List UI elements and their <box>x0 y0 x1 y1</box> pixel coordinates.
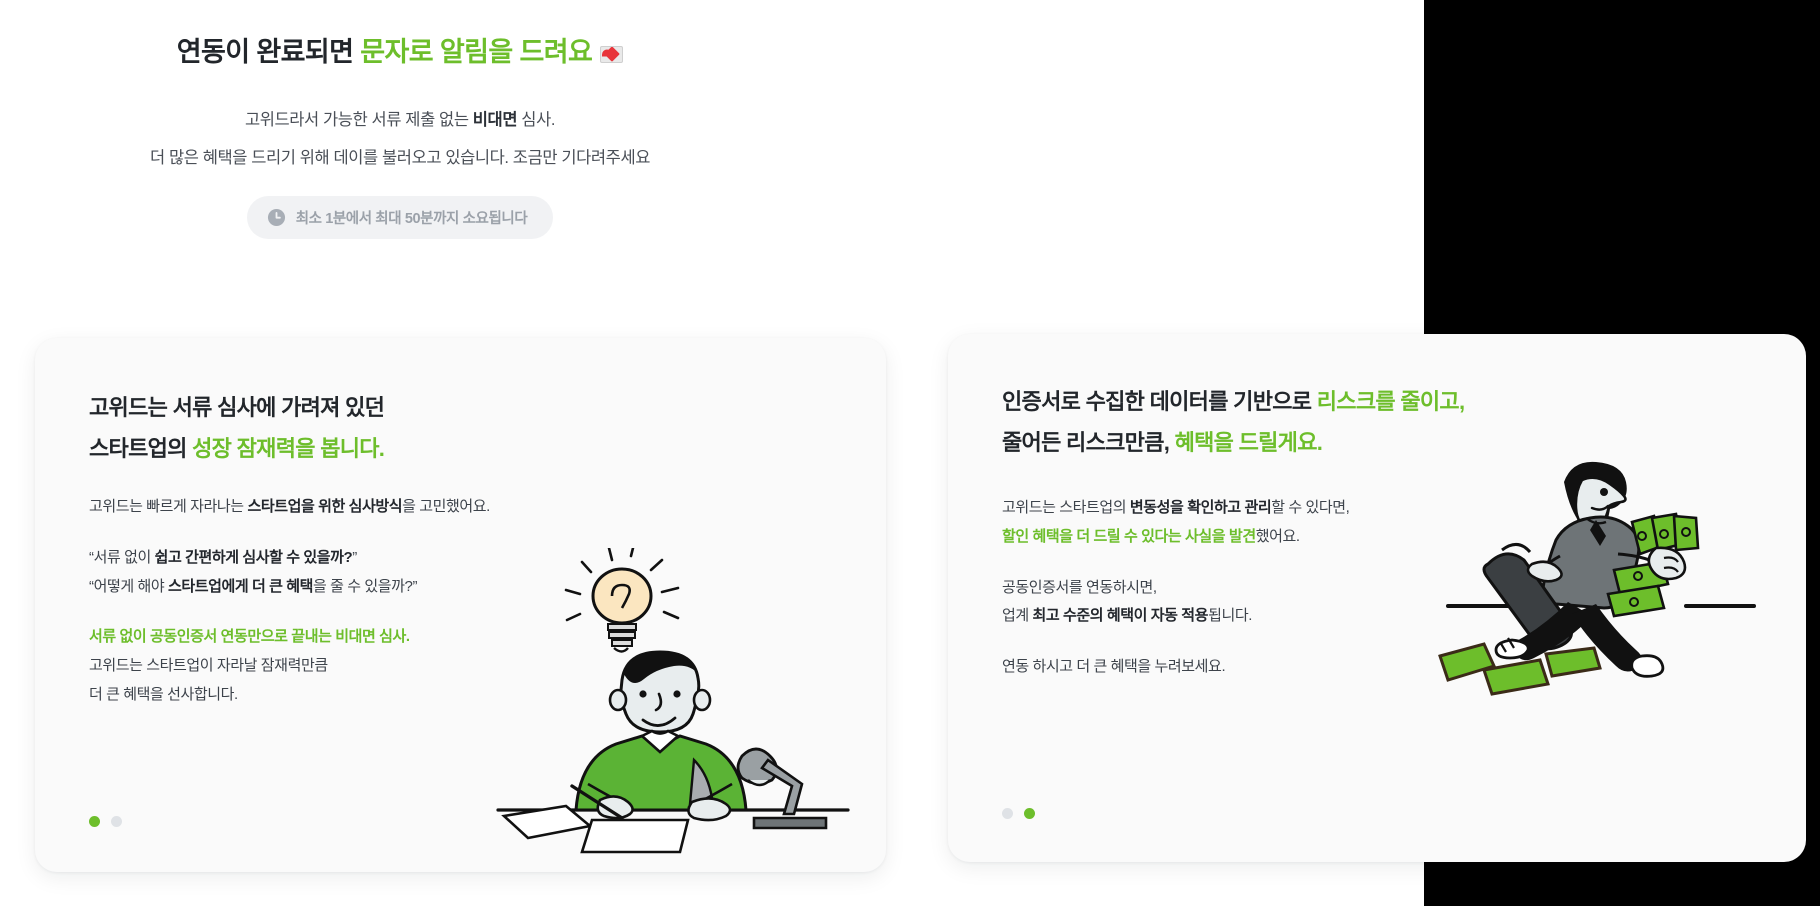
card-left-body: 고위드는 빠르게 자라나는 스타트업을 위한 심사방식을 고민했어요. “서류 … <box>89 493 490 710</box>
card-left-p1-c: 을 고민했어요. <box>402 498 490 515</box>
card-right-paragraph-3: 연동 하시고 더 큰 혜택을 누려보세요. <box>1002 653 1349 682</box>
duration-chip: 최소 1분에서 최대 50분까지 소요됩니다 <box>247 196 554 239</box>
pagination-dot-2[interactable] <box>111 816 122 827</box>
love-letter-emoji-icon <box>600 46 623 63</box>
card-left-p1-strong: 스타트업을 위한 심사방식 <box>247 498 402 515</box>
card-right-paragraph-2-line-2: 업계 최고 수준의 혜택이 자동 적용됩니다. <box>1002 602 1349 631</box>
duration-chip-wrapper: 최소 1분에서 최대 50분까지 소요됩니다 <box>0 196 800 239</box>
card-left-title-line-2: 스타트업의 성장 잠재력을 봅니다. <box>89 429 384 470</box>
card-right-p1-d: 했어요. <box>1256 528 1300 545</box>
card-left-q2-strong: 스타트업에게 더 큰 혜택 <box>168 578 313 595</box>
card-right-p1-strong: 변동성을 확인하고 관리 <box>1130 499 1271 516</box>
card-left-paragraph-1: 고위드는 빠르게 자라나는 스타트업을 위한 심사방식을 고민했어요. <box>89 493 490 522</box>
card-left-p1-a: 고위드는 빠르게 자라나는 <box>89 498 247 515</box>
card-right-p1-c: 할 수 있다면, <box>1271 499 1349 516</box>
pagination-dot-1[interactable] <box>1002 808 1013 819</box>
subtitle-line-1: 고위드라서 가능한 서류 제출 없는 비대면 심사. <box>0 106 800 130</box>
card-right-p1-accent: 할인 혜택을 더 드릴 수 있다는 사실을 발견 <box>1002 528 1256 545</box>
card-right-paragraph-1-line-2: 할인 혜택을 더 드릴 수 있다는 사실을 발견했어요. <box>1002 523 1349 552</box>
card-left-title: 고위드는 서류 심사에 가려져 있던 스타트업의 성장 잠재력을 봅니다. <box>89 388 384 469</box>
card-right-p2-c: 됩니다. <box>1208 607 1252 624</box>
card-right-p1-a: 고위드는 스타트업의 <box>1002 499 1130 516</box>
header: 연동이 완료되면 문자로 알림을 드려요 고위드라서 가능한 서류 제출 없는 … <box>0 0 800 239</box>
card-right-title-line-1: 인증서로 수집한 데이터를 기반으로 리스크를 줄이고, <box>1002 382 1464 423</box>
card-left-q1-a: “서류 없이 <box>89 549 155 566</box>
duration-chip-label: 최소 1분에서 최대 50분까지 소요됩니다 <box>296 207 528 228</box>
headline-accent: 문자로 알림을 드려요 <box>360 37 592 67</box>
spacer-2 <box>89 601 490 623</box>
businessman-running-with-cash-illustration <box>1436 444 1776 714</box>
pagination-dot-2[interactable] <box>1024 808 1035 819</box>
subtitle-1-part-c: 심사. <box>517 111 555 129</box>
info-card-left-inner: 고위드는 서류 심사에 가려져 있던 스타트업의 성장 잠재력을 봅니다. 고위… <box>35 338 886 872</box>
card-left-title-line-2-plain: 스타트업의 <box>89 436 192 461</box>
card-right-body: 고위드는 스타트업의 변동성을 확인하고 관리할 수 있다면, 할인 혜택을 더… <box>1002 494 1349 682</box>
card-right-paragraph-2-line-1: 공동인증서를 연동하시면, <box>1002 574 1349 603</box>
subtitle-line-2: 더 많은 혜택을 드리기 위해 데이를 불러오고 있습니다. 조금만 기다려주세… <box>0 144 800 168</box>
clock-icon <box>267 208 286 227</box>
card-right-pagination[interactable] <box>1002 808 1035 819</box>
card-left-paragraph-3-line-2: 고위드는 스타트업이 자라날 잠재력만큼 <box>89 652 490 681</box>
card-right-title: 인증서로 수집한 데이터를 기반으로 리스크를 줄이고, 줄어든 리스크만큼, … <box>1002 382 1464 463</box>
man-writing-at-desk-with-lightbulb-illustration <box>496 548 856 872</box>
runner-figure <box>1484 462 1698 676</box>
card-right-title-line-1-plain: 인증서로 수집한 데이터를 기반으로 <box>1002 389 1317 414</box>
card-left-title-line-1: 고위드는 서류 심사에 가려져 있던 <box>89 388 384 429</box>
card-left-q2-c: 을 줄 수 있을까?” <box>313 578 417 595</box>
subtitle-1-strong: 비대면 <box>473 111 517 129</box>
card-left-quote-1: “서류 없이 쉽고 간편하게 심사할 수 있을까?” <box>89 544 490 573</box>
card-right-p2-strong: 최고 수준의 혜택이 자동 적용 <box>1033 607 1209 624</box>
card-left-quote-2: “어떻게 해야 스타트업에게 더 큰 혜택을 줄 수 있을까?” <box>89 573 490 602</box>
spacer-1 <box>1002 552 1349 574</box>
card-right-p2-a: 업계 <box>1002 607 1033 624</box>
card-left-q1-strong: 쉽고 간편하게 심사할 수 있을까? <box>155 549 353 566</box>
pagination-dot-1[interactable] <box>89 816 100 827</box>
card-right-title-line-1-accent: 리스크를 줄이고, <box>1317 389 1465 414</box>
info-card-right-inner: 인증서로 수집한 데이터를 기반으로 리스크를 줄이고, 줄어든 리스크만큼, … <box>948 334 1806 862</box>
card-right-title-line-2-plain: 줄어든 리스크만큼, <box>1002 430 1175 455</box>
card-left-q2-a: “어떻게 해야 <box>89 578 168 595</box>
spacer-1 <box>89 522 490 544</box>
card-right-paragraph-1-line-1: 고위드는 스타트업의 변동성을 확인하고 관리할 수 있다면, <box>1002 494 1349 523</box>
card-left-pagination[interactable] <box>89 816 122 827</box>
info-card-left[interactable]: 고위드는 서류 심사에 가려져 있던 스타트업의 성장 잠재력을 봅니다. 고위… <box>35 338 886 872</box>
card-left-highlight-line: 서류 없이 공동인증서 연동만으로 끝내는 비대면 심사. <box>89 623 490 652</box>
page-root: 연동이 완료되면 문자로 알림을 드려요 고위드라서 가능한 서류 제출 없는 … <box>0 0 1820 906</box>
card-left-paragraph-3-line-3: 더 큰 혜택을 선사합니다. <box>89 681 490 710</box>
page-headline: 연동이 완료되면 문자로 알림을 드려요 <box>0 34 800 72</box>
card-right-title-line-2-accent: 혜택을 드릴게요. <box>1175 430 1323 455</box>
card-left-title-line-2-accent: 성장 잠재력을 봅니다. <box>192 436 384 461</box>
lightbulb-group <box>566 548 678 652</box>
info-card-right[interactable]: 인증서로 수집한 데이터를 기반으로 리스크를 줄이고, 줄어든 리스크만큼, … <box>948 334 1806 862</box>
card-left-q1-c: ” <box>352 549 357 566</box>
card-right-title-line-2: 줄어든 리스크만큼, 혜택을 드릴게요. <box>1002 423 1464 464</box>
spacer-2 <box>1002 631 1349 653</box>
headline-prefix: 연동이 완료되면 <box>177 37 360 67</box>
subtitle-1-part-a: 고위드라서 가능한 서류 제출 없는 <box>245 111 473 129</box>
person-at-desk-group <box>498 652 848 852</box>
